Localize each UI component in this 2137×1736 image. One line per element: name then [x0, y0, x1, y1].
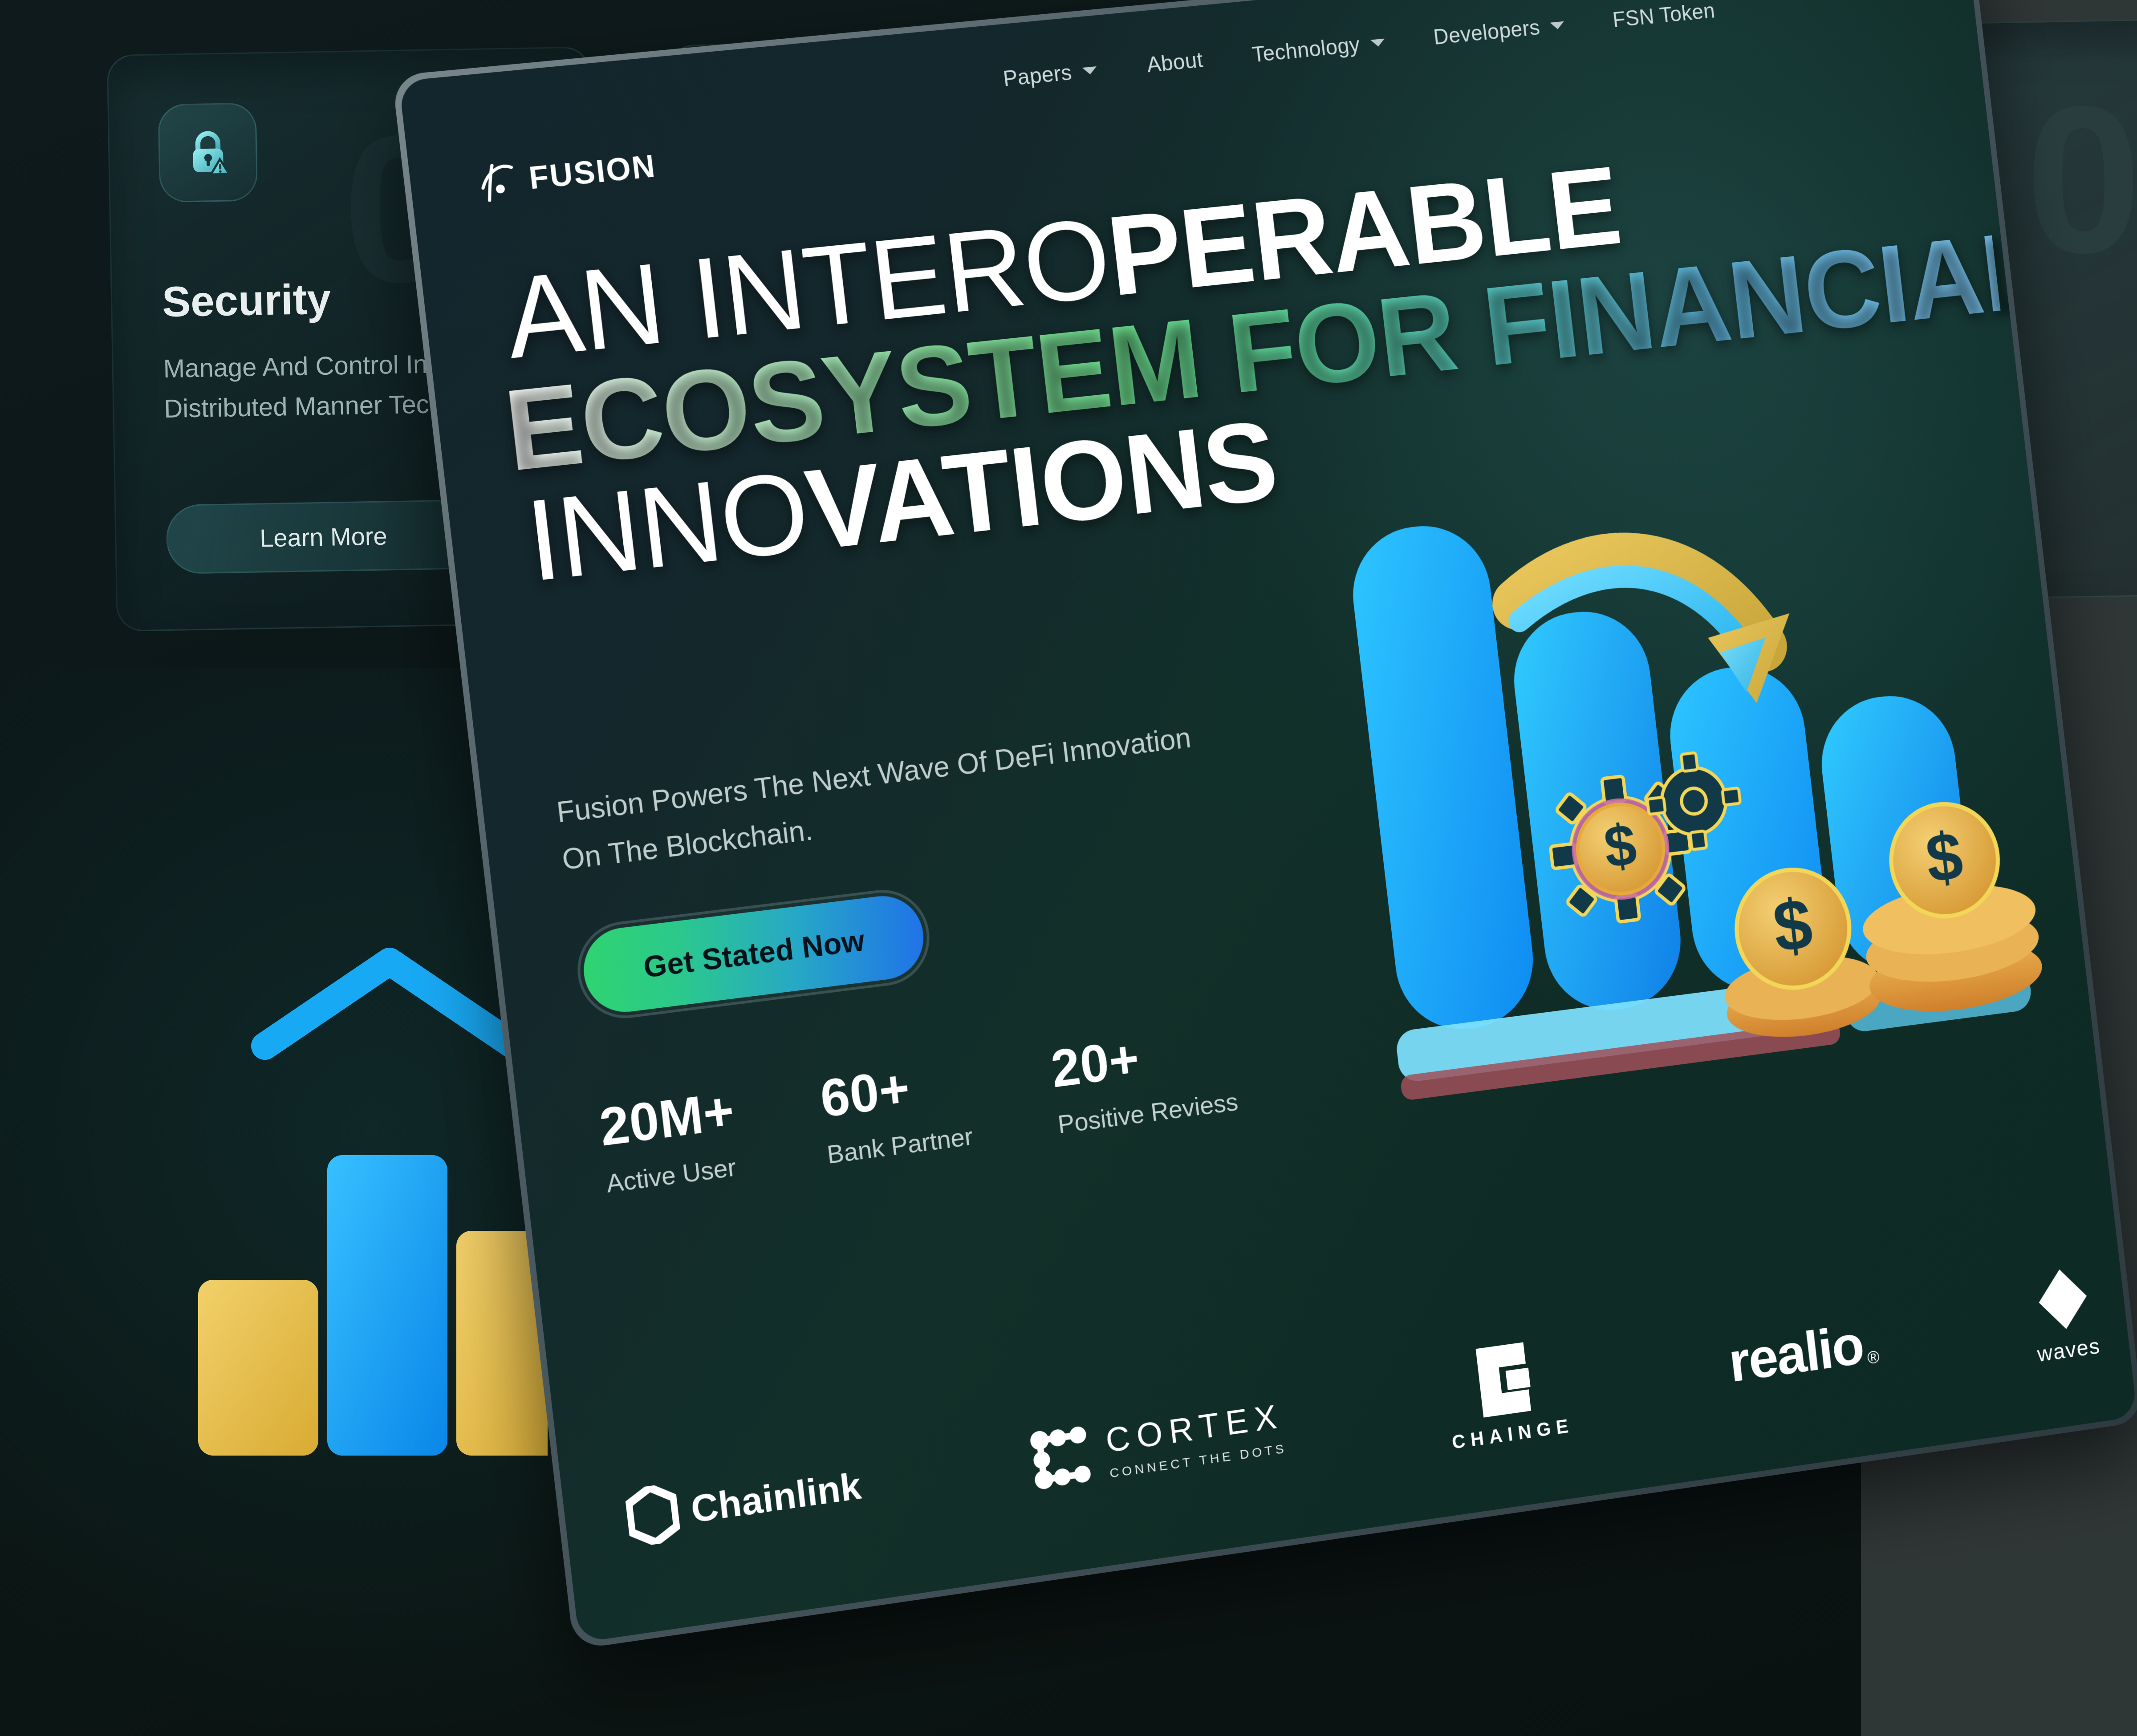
partner-name: CHAINGE	[1451, 1415, 1575, 1454]
chevron-down-icon	[1550, 21, 1565, 29]
stat-value: 20+	[1048, 1020, 1235, 1095]
stat-value: 60+	[818, 1055, 969, 1126]
get-started-button[interactable]: Get Stated Now	[573, 884, 934, 1024]
screen-frame: Papers About Technology Developers	[392, 0, 2137, 1650]
brand-name: FUSION	[527, 148, 658, 197]
card-number-04: 04	[2023, 72, 2137, 285]
trademark-symbol: ®	[1866, 1348, 1879, 1368]
waves-diamond-icon	[2033, 1264, 2092, 1334]
chevron-down-icon	[1082, 66, 1097, 75]
cta-label: Get Stated Now	[579, 892, 928, 1017]
lock-warning-icon	[158, 102, 258, 203]
cortex-nodes-icon	[1025, 1420, 1096, 1495]
partner-name: waves	[2036, 1333, 2101, 1367]
chainge-g-icon	[1471, 1339, 1542, 1420]
partner-cortex[interactable]: CORTEX CONNECT THE DOTS	[1025, 1393, 1288, 1494]
landing-page: Papers About Technology Developers	[399, 0, 2137, 1643]
brand-logo[interactable]: FUSION	[475, 146, 658, 204]
stat-label: Active User	[605, 1152, 742, 1199]
chainlink-hexagon-icon	[624, 1482, 682, 1548]
stat-bank-partner: 60+ Bank Partner	[818, 1055, 975, 1170]
chevron-down-icon	[1370, 38, 1385, 47]
stat-label: Bank Partner	[825, 1121, 974, 1169]
stat-positive-reviews: 20+ Positive Reviess	[1048, 1020, 1239, 1140]
hero-3d-illustration: $	[1326, 436, 2064, 1121]
partner-chainlink[interactable]: Chainlink	[624, 1457, 865, 1548]
partner-realio[interactable]: realio ®	[1726, 1310, 1880, 1395]
screenshot-stage: 01 Security Manage And Control In A Dist…	[0, 0, 2137, 1736]
stat-value: 20M+	[597, 1084, 737, 1154]
learn-more-button[interactable]: Learn More	[166, 499, 481, 574]
fusion-f-icon	[475, 159, 520, 204]
partner-name: realio	[1726, 1312, 1866, 1395]
hero-screen-mockup: Papers About Technology Developers	[392, 0, 2137, 1650]
partner-waves[interactable]: waves	[2028, 1263, 2102, 1367]
card-title: Security	[162, 275, 331, 327]
partner-name: Chainlink	[689, 1464, 864, 1532]
background-3d-bar-chart	[147, 899, 548, 1456]
hero-stats: 20M+ Active User 60+ Bank Partner 20+ Po…	[597, 1020, 1239, 1199]
stat-active-user: 20M+ Active User	[597, 1084, 742, 1199]
partner-chainge[interactable]: CHAINGE	[1442, 1334, 1575, 1454]
